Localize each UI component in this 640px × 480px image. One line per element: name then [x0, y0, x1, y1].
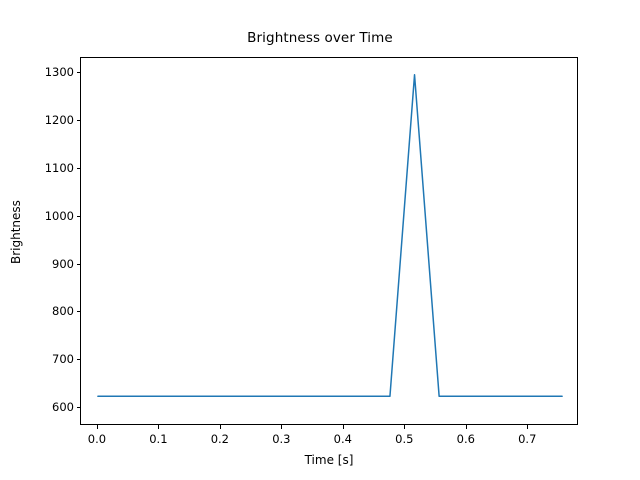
y-tick-label: 1000 — [18, 209, 74, 223]
y-tick-mark — [77, 216, 81, 217]
x-tick-label: 0.5 — [395, 432, 413, 446]
x-tick-mark — [97, 425, 98, 429]
x-tick-mark — [404, 425, 405, 429]
x-tick-mark — [343, 425, 344, 429]
data-series-line — [98, 75, 562, 397]
x-tick-label: 0.3 — [272, 432, 290, 446]
figure-canvas: Brightness over Time Brightness Time [s]… — [0, 0, 640, 480]
x-tick-mark — [466, 425, 467, 429]
y-tick-mark — [77, 311, 81, 312]
chart-title: Brightness over Time — [0, 30, 640, 46]
x-tick-mark — [281, 425, 282, 429]
y-tick-mark — [77, 120, 81, 121]
y-tick-mark — [77, 264, 81, 265]
x-tick-mark — [220, 425, 221, 429]
y-tick-label: 1100 — [18, 161, 74, 175]
y-tick-label: 900 — [18, 257, 74, 271]
y-tick-mark — [77, 359, 81, 360]
y-tick-label: 1300 — [18, 65, 74, 79]
plot-axes — [80, 57, 578, 425]
y-tick-label: 1200 — [18, 113, 74, 127]
y-tick-label: 700 — [18, 352, 74, 366]
plot-line-svg — [81, 58, 579, 426]
x-tick-mark — [158, 425, 159, 429]
x-tick-label: 0.0 — [88, 432, 106, 446]
x-tick-mark — [527, 425, 528, 429]
x-tick-label: 0.4 — [334, 432, 352, 446]
y-tick-mark — [77, 168, 81, 169]
x-tick-label: 0.6 — [457, 432, 475, 446]
y-tick-mark — [77, 72, 81, 73]
y-tick-label: 600 — [18, 400, 74, 414]
y-tick-mark — [77, 407, 81, 408]
x-tick-label: 0.7 — [518, 432, 536, 446]
x-tick-label: 0.1 — [149, 432, 167, 446]
x-tick-label: 0.2 — [211, 432, 229, 446]
y-tick-label: 800 — [18, 304, 74, 318]
x-axis-label: Time [s] — [80, 453, 578, 467]
